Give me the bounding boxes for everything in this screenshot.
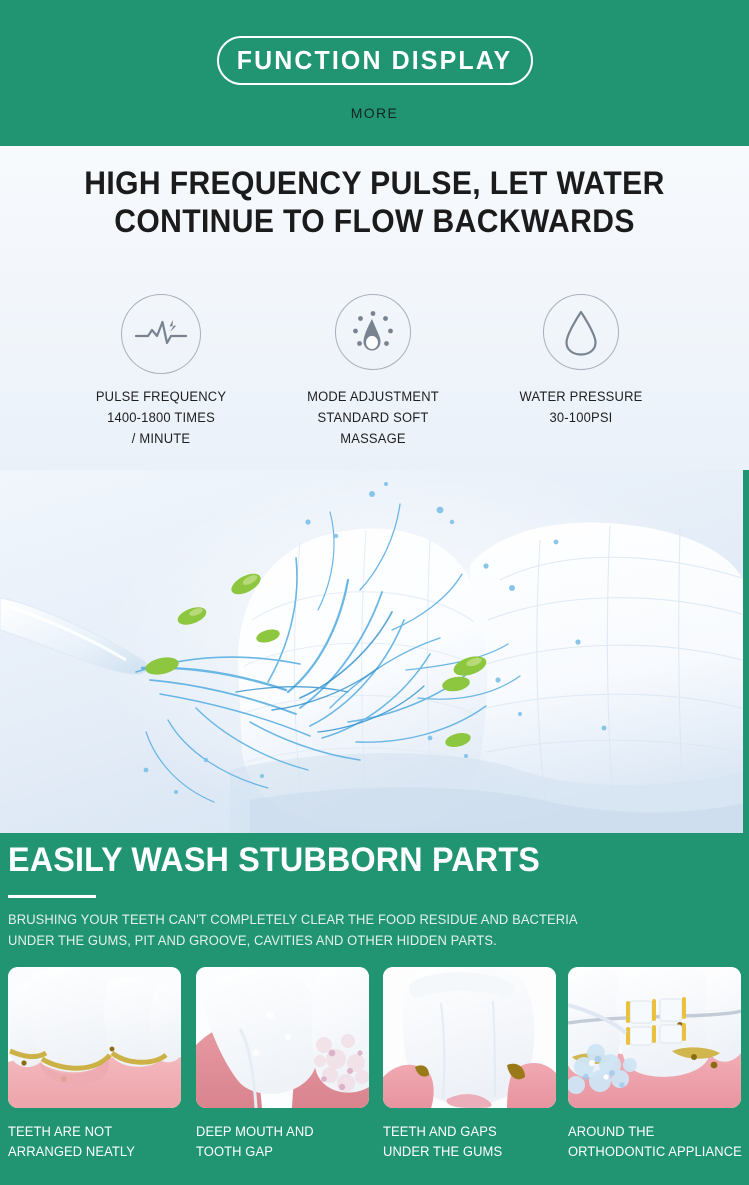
feature-line-2: 1400-1800 TIMES (60, 407, 262, 428)
headline-section: HIGH FREQUENCY PULSE, LET WATER CONTINUE… (0, 146, 749, 470)
caption-line-2: UNDER THE GUMS (383, 1142, 549, 1162)
use-case-card[interactable]: TEETH AND GAPS UNDER THE GUMS (383, 967, 556, 1162)
feature-caption-pulse: PULSE FREQUENCY 1400-1800 TIMES / MINUTE (60, 386, 262, 449)
mode-dial-droplet-icon (347, 306, 399, 358)
use-case-card[interactable]: AROUND THE ORTHODONTIC APPLIANCE (568, 967, 741, 1162)
feature-line-1: WATER PRESSURE (480, 386, 682, 407)
feature-list: PULSE FREQUENCY 1400-1800 TIMES / MINUTE (0, 294, 749, 449)
feature-line-2: 30-100PSI (480, 407, 682, 428)
use-case-card[interactable]: TEETH ARE NOT ARRANGED NEATLY (8, 967, 181, 1162)
feature-caption-mode: MODE ADJUSTMENT STANDARD SOFT MASSAGE (272, 386, 474, 449)
caption-line-2: ARRANGED NEATLY (8, 1142, 174, 1162)
description-line-2: UNDER THE GUMS, PIT AND GROOVE, CAVITIES… (8, 930, 699, 951)
feature-water-pressure: WATER PRESSURE 30-100PSI (476, 294, 686, 428)
card-caption: TEETH ARE NOT ARRANGED NEATLY (8, 1122, 174, 1162)
card-caption: DEEP MOUTH AND TOOTH GAP (196, 1122, 362, 1162)
caption-line-1: DEEP MOUTH AND (196, 1122, 362, 1142)
function-display-pill[interactable]: FUNCTION DISPLAY (217, 36, 533, 85)
pulse-icon-circle (121, 294, 201, 374)
feature-mode-adjustment: MODE ADJUSTMENT STANDARD SOFT MASSAGE (268, 294, 478, 449)
hero-image-teeth-water-splash (0, 470, 749, 833)
section-title: EASILY WASH STUBBORN PARTS (8, 841, 540, 880)
crowded-teeth-illustration (8, 967, 181, 1108)
pulse-wave-icon (134, 317, 188, 351)
use-case-card-list: TEETH ARE NOT ARRANGED NEATLY (8, 967, 749, 1177)
card-caption: AROUND THE ORTHODONTIC APPLIANCE (568, 1122, 734, 1162)
caption-line-1: AROUND THE (568, 1122, 734, 1142)
function-display-banner: FUNCTION DISPLAY MORE (0, 0, 749, 146)
orthodontic-appliance-image (568, 967, 741, 1108)
card-caption: TEETH AND GAPS UNDER THE GUMS (383, 1122, 549, 1162)
page-title: HIGH FREQUENCY PULSE, LET WATER CONTINUE… (22, 164, 726, 240)
feature-line-3: MASSAGE (272, 428, 474, 449)
caption-line-2: ORTHODONTIC APPLIANCE (568, 1142, 734, 1162)
function-display-label: FUNCTION DISPLAY (237, 45, 513, 76)
caption-line-1: TEETH ARE NOT (8, 1122, 174, 1142)
caption-line-1: TEETH AND GAPS (383, 1122, 549, 1142)
feature-line-1: PULSE FREQUENCY (60, 386, 262, 407)
braces-illustration (568, 967, 741, 1108)
caption-line-2: TOOTH GAP (196, 1142, 362, 1162)
hero-illustration (0, 470, 749, 833)
stubborn-parts-section: EASILY WASH STUBBORN PARTS BRUSHING YOUR… (0, 833, 749, 1185)
feature-line-1: MODE ADJUSTMENT (272, 386, 474, 407)
feature-caption-pressure: WATER PRESSURE 30-100PSI (480, 386, 682, 428)
feature-line-3: / MINUTE (60, 428, 262, 449)
water-droplet-icon (559, 306, 603, 358)
use-case-card[interactable]: DEEP MOUTH AND TOOTH GAP (196, 967, 369, 1162)
hero-right-green-strip (743, 470, 749, 833)
title-divider (8, 895, 96, 898)
product-detail-page: FUNCTION DISPLAY MORE HIGH FREQUENCY PUL… (0, 0, 749, 1185)
tooth-under-gums-image (383, 967, 556, 1108)
mode-icon-circle (335, 294, 411, 370)
tooth-gap-image (196, 967, 369, 1108)
feature-pulse-frequency: PULSE FREQUENCY 1400-1800 TIMES / MINUTE (56, 294, 266, 449)
description-line-1: BRUSHING YOUR TEETH CAN'T COMPLETELY CLE… (8, 909, 699, 930)
crowded-teeth-image (8, 967, 181, 1108)
section-description: BRUSHING YOUR TEETH CAN'T COMPLETELY CLE… (8, 909, 699, 951)
single-tooth-illustration (383, 967, 556, 1108)
feature-line-2: STANDARD SOFT (272, 407, 474, 428)
water-pressure-icon-circle (543, 294, 619, 370)
tooth-gap-illustration (196, 967, 369, 1108)
more-label[interactable]: MORE (0, 105, 749, 121)
